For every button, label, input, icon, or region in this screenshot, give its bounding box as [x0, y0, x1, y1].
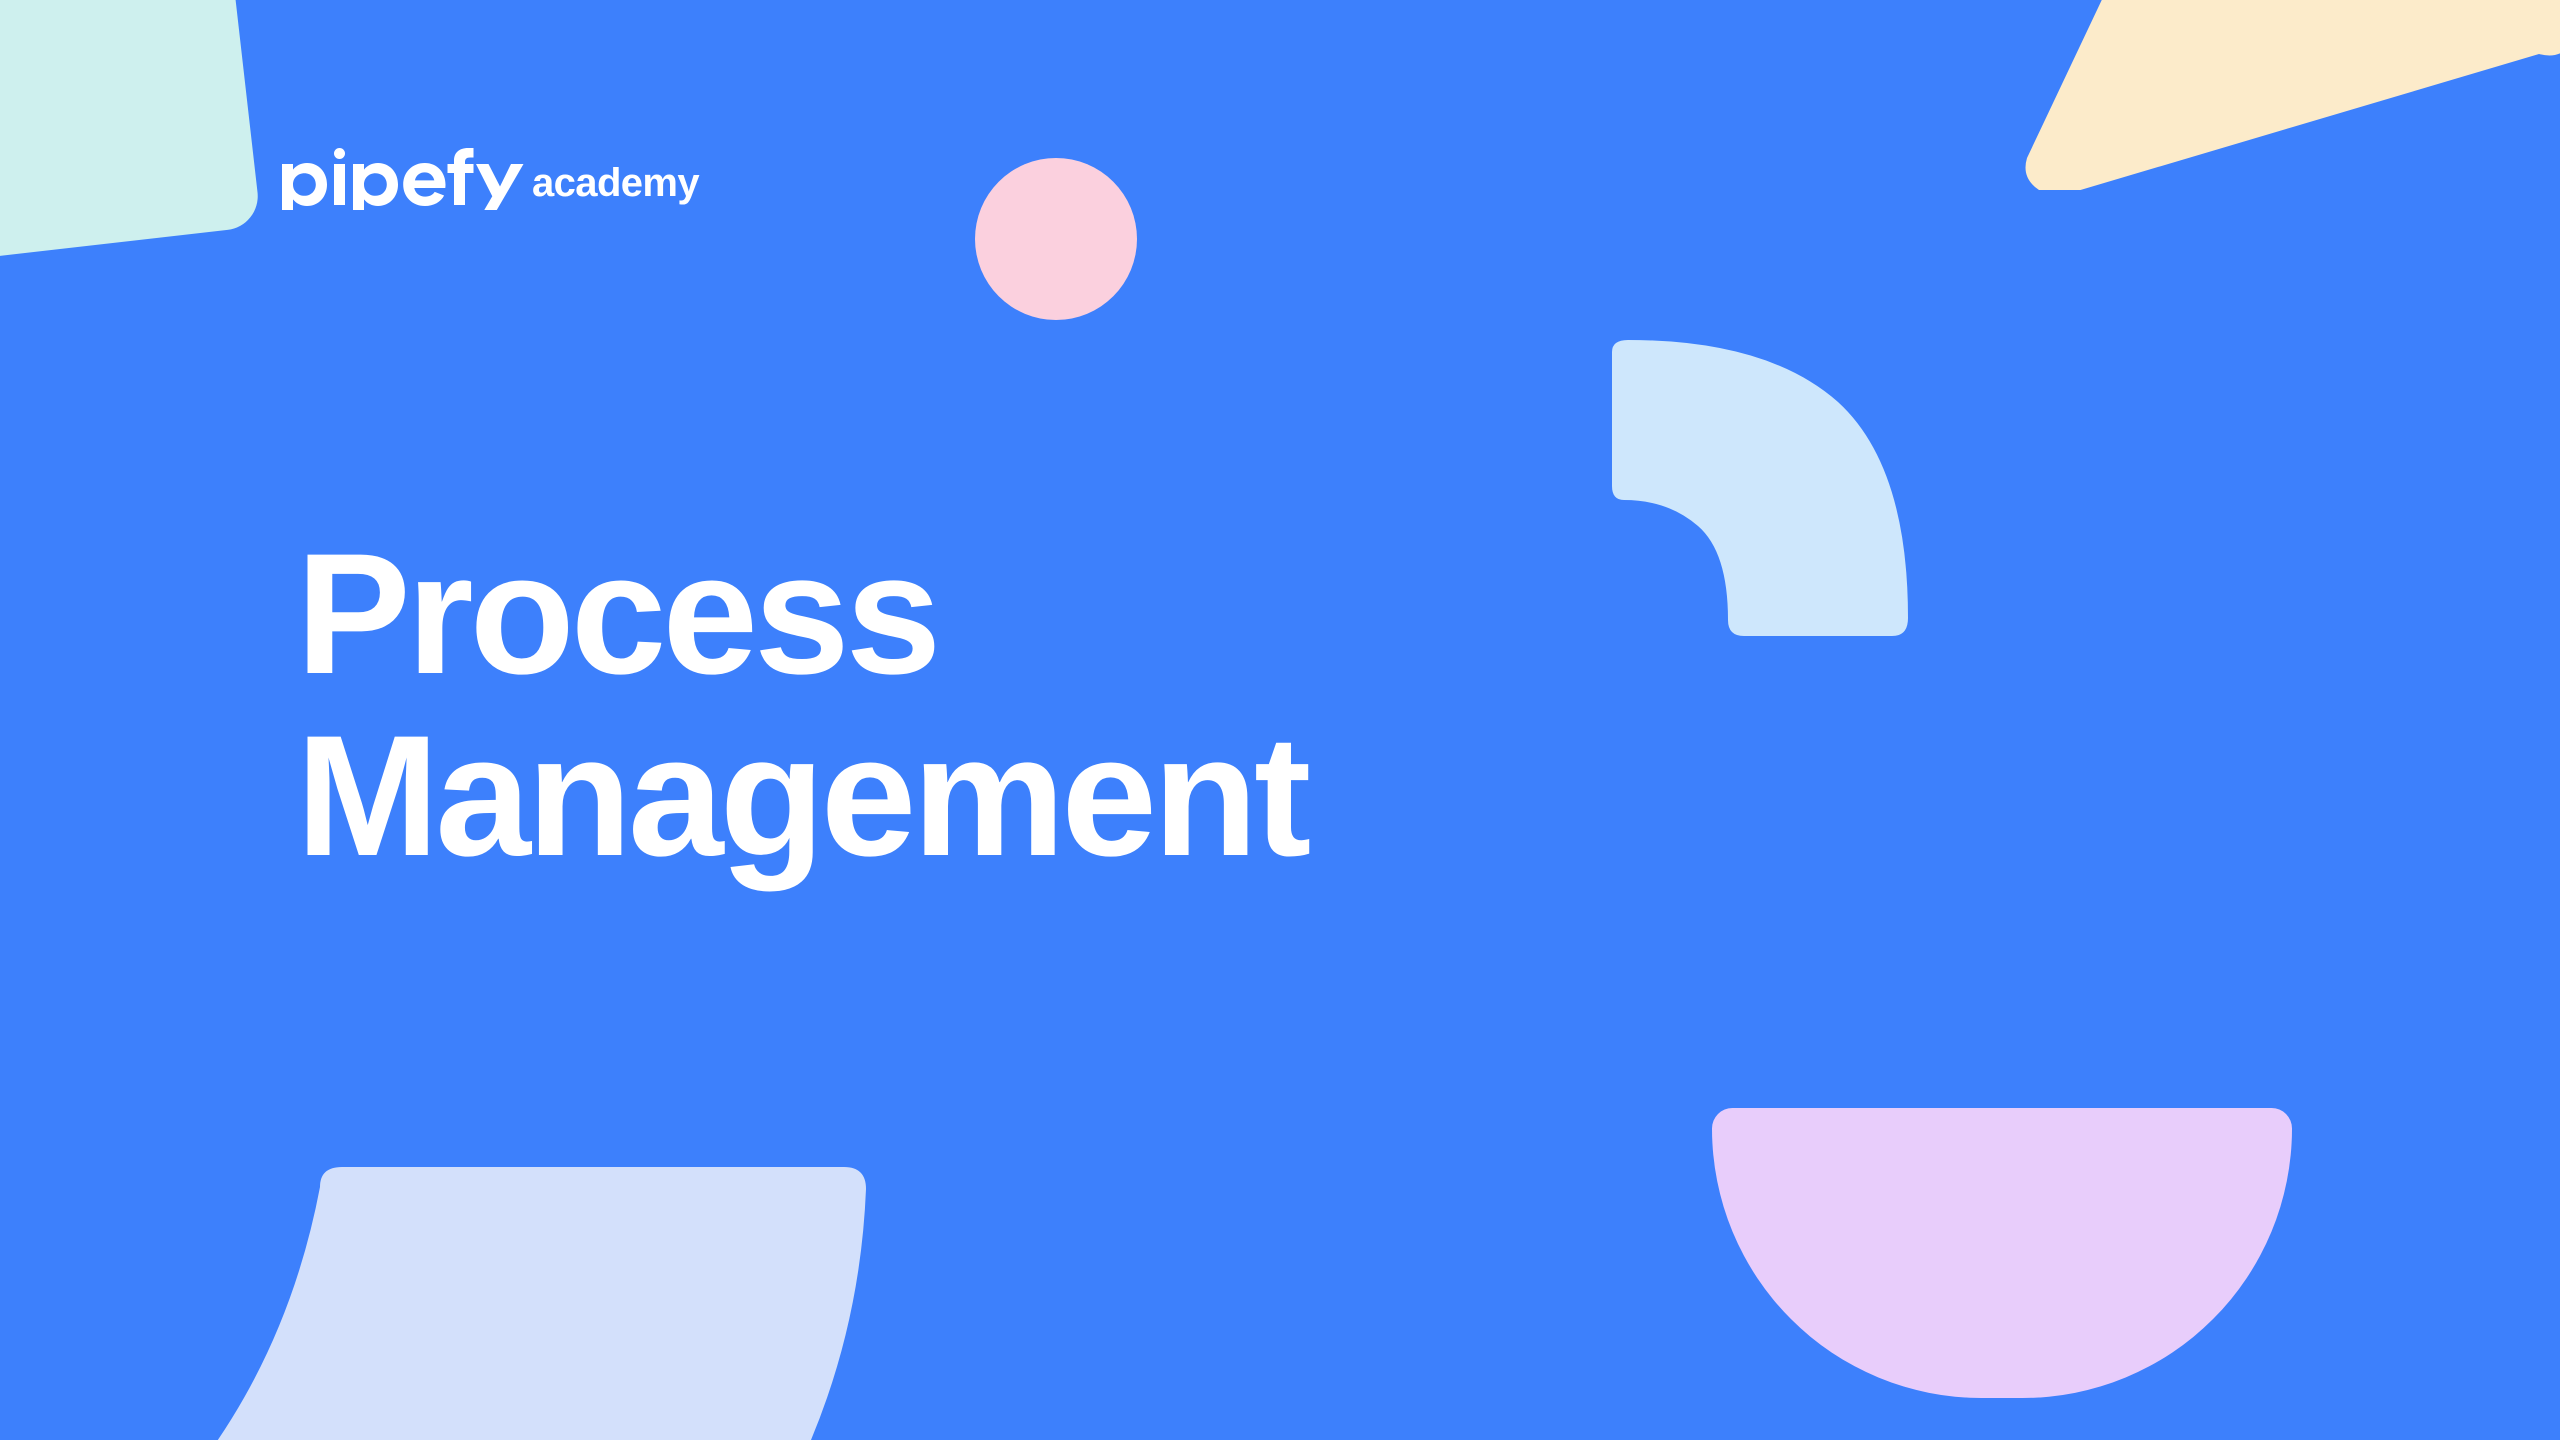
periwinkle-curved-shape [140, 1165, 870, 1440]
mint-rounded-square-shape [0, 0, 261, 271]
title-line-1: Process [296, 528, 1796, 700]
slide-canvas: academy Process Management [0, 0, 2560, 1440]
title-line-2: Management [296, 710, 1796, 882]
pipefy-wordmark-icon [282, 148, 530, 210]
slide-title: Process Management [296, 528, 1796, 882]
pink-circle-shape [975, 158, 1137, 320]
logo-academy-label: academy [532, 163, 699, 203]
cream-triangle-shape [1975, 0, 2560, 190]
lavender-half-circle-shape [1712, 1108, 2292, 1398]
pipefy-academy-logo[interactable]: academy [282, 130, 699, 210]
